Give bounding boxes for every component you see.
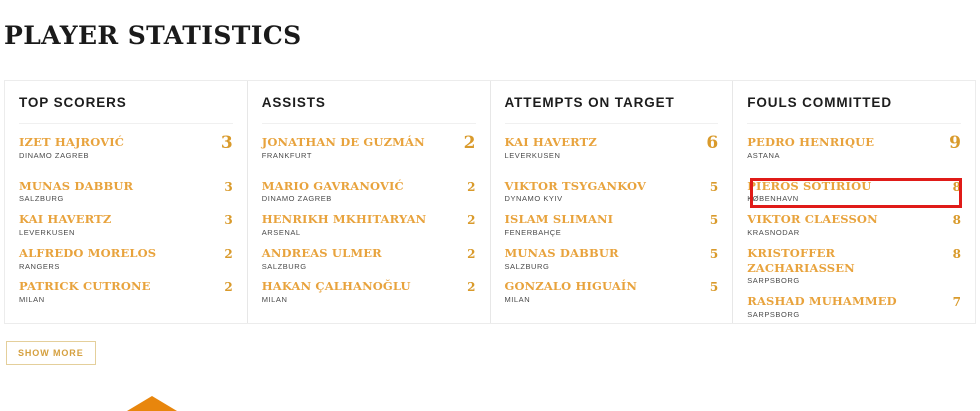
player-block: MUNAS DABBUR SALZBURG [19,179,141,206]
player-name[interactable]: ISLAM SLIMANI [505,212,614,227]
column-header: ATTEMPTS ON TARGET [505,81,719,124]
stat-value: 5 [710,212,718,228]
player-block: ALFREDO MORELOS RANGERS [19,246,164,273]
stat-row[interactable]: PEDRO HENRIQUE ASTANA 9 [747,130,961,176]
stat-value: 7 [953,294,961,310]
stat-value: 9 [949,135,961,153]
stat-row[interactable]: VIKTOR CLAESSON KRASNODAR 8 [747,209,961,243]
player-club: ARSENAL [262,228,427,239]
stat-row[interactable]: IZET HAJROVIĆ DINAMO ZAGREB 3 [19,130,233,176]
player-club: ASTANA [747,151,874,162]
player-name[interactable]: MUNAS DABBUR [19,179,133,194]
show-more-button[interactable]: SHOW MORE [6,341,96,365]
player-block: ISLAM SLIMANI FENERBAHÇE [505,212,622,239]
player-statistics-grid: TOP SCORERS IZET HAJROVIĆ DINAMO ZAGREB … [4,80,976,324]
player-name[interactable]: VIKTOR CLAESSON [747,212,878,227]
stats-column-assists: ASSISTS JONATHAN DE GUZMÁN FRANKFURT 2 M… [248,81,491,323]
player-club: FENERBAHÇE [505,228,614,239]
player-block: GONZALO HIGUAÍN MILAN [505,279,646,306]
stat-value: 5 [710,179,718,195]
stat-value: 8 [953,246,961,262]
stat-value: 2 [467,212,475,228]
stat-value: 2 [224,246,232,262]
stat-row[interactable]: ALFREDO MORELOS RANGERS 2 [19,243,233,277]
stat-row[interactable]: KAI HAVERTZ LEVERKUSEN 6 [505,130,719,176]
page-title: PLAYER STATISTICS [0,0,980,48]
stat-row[interactable]: PATRICK CUTRONE MILAN 2 [19,276,233,310]
player-block: PIEROS SOTIRIOU KØBENHAVN [747,179,879,206]
stat-value: 2 [467,179,475,195]
stat-value: 2 [464,135,476,153]
stat-value: 2 [224,279,232,295]
stat-row[interactable]: ISLAM SLIMANI FENERBAHÇE 5 [505,209,719,243]
player-name[interactable]: VIKTOR TSYGANKOV [505,179,647,194]
stat-value: 8 [953,212,961,228]
player-block: HENRIKH MKHITARYAN ARSENAL [262,212,435,239]
player-name[interactable]: ANDREAS ULMER [262,246,382,261]
stat-row[interactable]: MUNAS DABBUR SALZBURG 5 [505,243,719,277]
player-club: LEVERKUSEN [19,228,111,239]
column-header: TOP SCORERS [19,81,233,124]
stat-row[interactable]: HENRIKH MKHITARYAN ARSENAL 2 [262,209,476,243]
player-block: RASHAD MUHAMMED SARPSBORG [747,294,905,321]
player-name[interactable]: PATRICK CUTRONE [19,279,151,294]
player-club: RANGERS [19,262,156,273]
stat-row[interactable]: ANDREAS ULMER SALZBURG 2 [262,243,476,277]
player-block: PEDRO HENRIQUE ASTANA [747,135,882,162]
stat-row[interactable]: VIKTOR TSYGANKOV DYNAMO KYIV 5 [505,176,719,210]
player-club: SALZBURG [19,194,133,205]
player-name[interactable]: HAKAN ÇALHANOĞLU [262,279,411,294]
player-block: VIKTOR TSYGANKOV DYNAMO KYIV [505,179,655,206]
stat-row[interactable]: RASHAD MUHAMMED SARPSBORG 7 [747,291,961,325]
player-block: KRISTOFFER ZACHARIASSEN SARPSBORG [747,246,952,287]
stat-value: 3 [224,179,232,195]
player-club: DINAMO ZAGREB [19,151,124,162]
column-header: ASSISTS [262,81,476,124]
player-name[interactable]: GONZALO HIGUAÍN [505,279,638,294]
player-name[interactable]: JONATHAN DE GUZMÁN [262,135,425,150]
player-club: MILAN [505,295,638,306]
stat-row-highlighted[interactable]: PIEROS SOTIRIOU KØBENHAVN 8 [747,176,961,210]
player-block: KAI HAVERTZ LEVERKUSEN [505,135,605,162]
stat-value: 6 [706,135,718,153]
player-club: DINAMO ZAGREB [262,194,404,205]
stat-row[interactable]: KAI HAVERTZ LEVERKUSEN 3 [19,209,233,243]
stats-column-attempts-on-target: ATTEMPTS ON TARGET KAI HAVERTZ LEVERKUSE… [491,81,734,323]
player-block: MUNAS DABBUR SALZBURG [505,246,627,273]
stat-row[interactable]: GONZALO HIGUAÍN MILAN 5 [505,276,719,310]
player-club: SALZBURG [505,262,619,273]
player-club: SALZBURG [262,262,382,273]
player-club: SARPSBORG [747,310,897,321]
stat-value: 5 [710,279,718,295]
player-name[interactable]: KAI HAVERTZ [19,212,111,227]
player-club: FRANKFURT [262,151,425,162]
stat-row[interactable]: HAKAN ÇALHANOĞLU MILAN 2 [262,276,476,310]
player-name[interactable]: KAI HAVERTZ [505,135,597,150]
player-club: KØBENHAVN [747,194,871,205]
column-header: FOULS COMMITTED [747,81,961,124]
player-name[interactable]: RASHAD MUHAMMED [747,294,897,309]
chevron-up-icon [127,396,177,411]
stat-value: 3 [221,135,233,153]
player-block: HAKAN ÇALHANOĞLU MILAN [262,279,419,306]
player-name[interactable]: MARIO GAVRANOVIĆ [262,179,404,194]
player-block: MARIO GAVRANOVIĆ DINAMO ZAGREB [262,179,412,206]
player-name[interactable]: PIEROS SOTIRIOU [747,179,871,194]
stats-row-list: IZET HAJROVIĆ DINAMO ZAGREB 3 MUNAS DABB… [19,124,233,310]
player-club: SARPSBORG [747,276,944,287]
player-name[interactable]: ALFREDO MORELOS [19,246,156,261]
player-block: IZET HAJROVIĆ DINAMO ZAGREB [19,135,132,162]
stat-value: 2 [467,246,475,262]
stat-row[interactable]: MARIO GAVRANOVIĆ DINAMO ZAGREB 2 [262,176,476,210]
stat-value: 8 [953,179,961,195]
stats-row-list: JONATHAN DE GUZMÁN FRANKFURT 2 MARIO GAV… [262,124,476,310]
stat-row[interactable]: KRISTOFFER ZACHARIASSEN SARPSBORG 8 [747,243,961,291]
player-club: MILAN [19,295,151,306]
player-block: PATRICK CUTRONE MILAN [19,279,159,306]
player-name[interactable]: KRISTOFFER ZACHARIASSEN [747,246,944,275]
player-club: MILAN [262,295,411,306]
player-name[interactable]: HENRIKH MKHITARYAN [262,212,427,227]
stat-row[interactable]: MUNAS DABBUR SALZBURG 3 [19,176,233,210]
player-club: KRASNODAR [747,228,878,239]
player-club: DYNAMO KYIV [505,194,647,205]
stat-value: 2 [467,279,475,295]
player-block: KAI HAVERTZ LEVERKUSEN [19,212,119,239]
stat-value: 5 [710,246,718,262]
player-club: LEVERKUSEN [505,151,597,162]
stats-row-list: KAI HAVERTZ LEVERKUSEN 6 VIKTOR TSYGANKO… [505,124,719,310]
stats-row-list: PEDRO HENRIQUE ASTANA 9 PIEROS SOTIRIOU … [747,124,961,325]
player-block: VIKTOR CLAESSON KRASNODAR [747,212,886,239]
player-name[interactable]: PEDRO HENRIQUE [747,135,874,150]
player-name[interactable]: MUNAS DABBUR [505,246,619,261]
player-block: JONATHAN DE GUZMÁN FRANKFURT [262,135,433,162]
stat-value: 3 [224,212,232,228]
stats-column-top-scorers: TOP SCORERS IZET HAJROVIĆ DINAMO ZAGREB … [5,81,248,323]
stats-column-fouls-committed: FOULS COMMITTED PEDRO HENRIQUE ASTANA 9 … [733,81,975,323]
player-block: ANDREAS ULMER SALZBURG [262,246,390,273]
player-name[interactable]: IZET HAJROVIĆ [19,135,124,150]
stat-row[interactable]: JONATHAN DE GUZMÁN FRANKFURT 2 [262,130,476,176]
